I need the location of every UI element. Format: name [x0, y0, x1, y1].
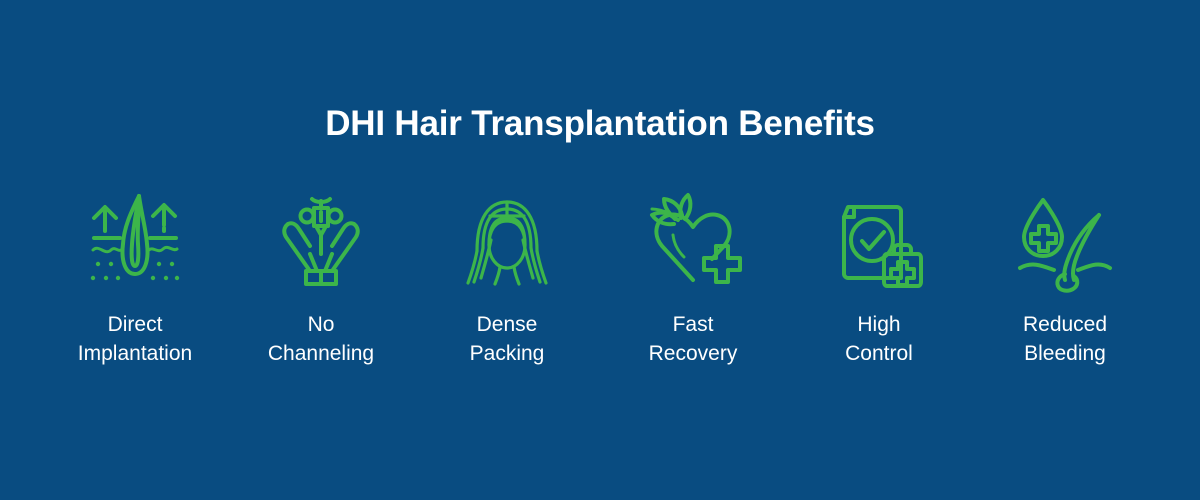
benefit-item-dense-packing[interactable]: Dense Packing: [414, 188, 600, 368]
dhi-benefits-infographic: DHI Hair Transplantation Benefits: [0, 0, 1200, 500]
benefit-label: Fast Recovery: [649, 310, 738, 368]
heart-leaf-cross-icon: [638, 188, 748, 298]
benefit-item-reduced-bleeding[interactable]: Reduced Bleeding: [972, 188, 1158, 368]
page-title: DHI Hair Transplantation Benefits: [0, 101, 1200, 147]
hair-follicle-arrows-icon: [80, 188, 190, 298]
benefit-label: Direct Implantation: [78, 310, 192, 368]
dense-hair-head-icon: [452, 188, 562, 298]
benefit-item-direct-implantation[interactable]: Direct Implantation: [42, 188, 228, 368]
benefit-item-fast-recovery[interactable]: Fast Recovery: [600, 188, 786, 368]
benefit-label: Dense Packing: [470, 310, 545, 368]
blood-drop-follicle-icon: [1010, 188, 1120, 298]
benefit-label: Reduced Bleeding: [1023, 310, 1107, 368]
benefit-label: No Channeling: [268, 310, 374, 368]
benefit-item-high-control[interactable]: High Control: [786, 188, 972, 368]
benefits-list: Direct Implantation: [42, 188, 1158, 368]
benefit-label: High Control: [845, 310, 913, 368]
benefit-item-no-channeling[interactable]: No Channeling: [228, 188, 414, 368]
hands-implanter-pen-icon: [266, 188, 376, 298]
document-check-medical-kit-icon: [824, 188, 934, 298]
